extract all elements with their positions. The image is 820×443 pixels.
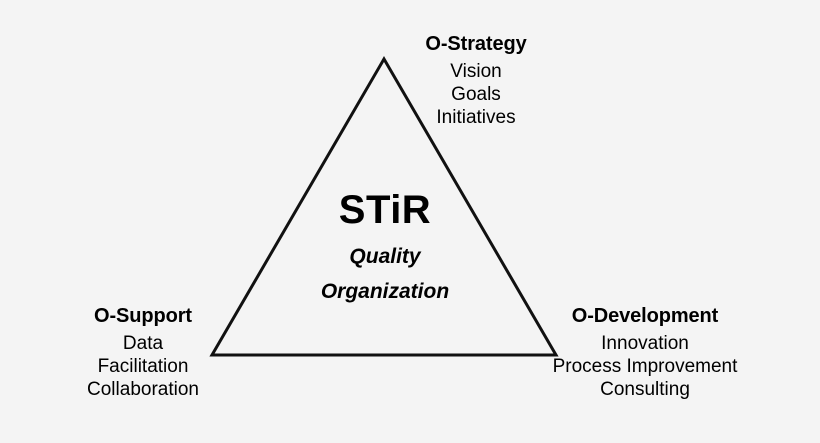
corner-item-development-1: Innovation (525, 332, 765, 355)
center-acronym: STiR (265, 190, 505, 230)
center-subtitle-line-1: Quality (265, 246, 505, 267)
corner-item-strategy-3: Initiatives (356, 106, 596, 129)
center-subtitle-line-2: Organization (265, 281, 505, 302)
corner-item-support-2: Facilitation (23, 355, 263, 378)
corner-item-support-1: Data (23, 332, 263, 355)
corner-label-strategy: O-Strategy Vision Goals Initiatives (356, 34, 596, 129)
corner-item-development-2: Process Improvement (525, 355, 765, 378)
diagram-canvas: STiR Quality Organization O-Strategy Vis… (0, 0, 820, 443)
corner-item-strategy-1: Vision (356, 60, 596, 83)
corner-item-development-3: Consulting (525, 378, 765, 401)
corner-title-strategy: O-Strategy (356, 34, 596, 54)
corner-title-support: O-Support (23, 306, 263, 326)
corner-label-support: O-Support Data Facilitation Collaboratio… (23, 306, 263, 401)
corner-title-development: O-Development (525, 306, 765, 326)
center-label-group: STiR Quality Organization (265, 190, 505, 302)
corner-item-strategy-2: Goals (356, 83, 596, 106)
corner-item-support-3: Collaboration (23, 378, 263, 401)
corner-label-development: O-Development Innovation Process Improve… (525, 306, 765, 401)
